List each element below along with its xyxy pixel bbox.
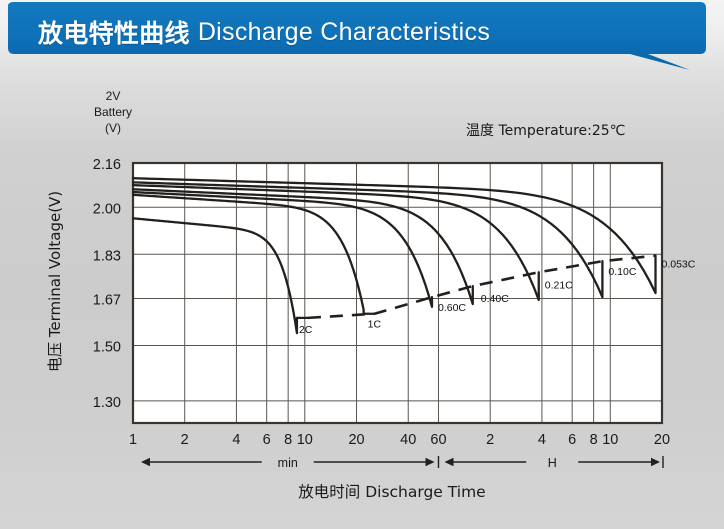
x-tick-labels: 124681020406024681020 [129,432,670,448]
x-tick-label: 6 [568,432,576,448]
y-axis-title: 电压 Terminal Voltage(V) [46,191,64,372]
x-axis-title-text: 放电时间 Discharge Time [298,483,485,501]
curve-label-0p053C: 0.053C [662,259,696,271]
curve-label-0p60C: 0.60C [438,302,466,314]
hour-unit-label: H [548,456,557,470]
y-tick-label: 2.16 [93,157,121,173]
y-axis-header: 2V Battery (V) [94,89,132,135]
x-tick-label: 6 [263,432,271,448]
y-axis-header-line-2: Battery [94,105,132,119]
x-tick-label: 8 [284,432,292,448]
curve-label-1C: 1C [368,319,382,331]
hour-unit-arrow-right [651,458,660,466]
discharge-chart: 2V Battery (V) 温度 Temperature:25℃ 电压 Ter… [0,72,724,529]
min-unit-arrow-right [425,458,434,466]
x-tick-label: 4 [538,432,546,448]
min-unit-label: min [278,456,298,470]
x-tick-label: 2 [486,432,494,448]
y-tick-label: 1.67 [93,293,121,309]
plot-area [133,163,662,423]
banner-bubble [8,2,706,70]
y-tick-label: 1.50 [93,340,121,356]
y-tick-label: 2.00 [93,201,121,217]
y-tick-labels: 2.162.001.831.671.501.30 [93,157,121,411]
chart-canvas: 2V Battery (V) 温度 Temperature:25℃ 电压 Ter… [0,72,724,529]
min-unit-arrow-left [141,458,150,466]
curve-label-0p40C: 0.40C [481,293,509,305]
y-axis-title-text: 电压 Terminal Voltage(V) [46,191,64,372]
x-tick-label: 8 [590,432,598,448]
x-tick-label: 20 [348,432,364,448]
x-tick-label: 20 [654,432,670,448]
x-tick-label: 10 [297,432,313,448]
x-axis-unit-indicators: minH [141,456,663,470]
temperature-annotation: 温度 Temperature:25℃ [466,123,625,139]
y-axis-header-line-1: 2V [106,89,121,103]
curve-label-0p10C: 0.10C [608,266,636,278]
curve-label-2C: 2C [299,324,313,336]
x-tick-label: 1 [129,432,137,448]
plot-background [133,163,662,423]
y-tick-label: 1.30 [93,395,121,411]
curve-label-0p21C: 0.21C [545,279,573,291]
x-tick-label: 60 [430,432,446,448]
x-tick-label: 4 [232,432,240,448]
x-tick-label: 2 [181,432,189,448]
y-axis-header-line-3: (V) [105,121,121,135]
hour-unit-arrow-left [444,458,453,466]
y-tick-label: 1.83 [93,248,121,264]
header-banner: 放电特性曲线 Discharge Characteristics [0,0,724,72]
x-tick-label: 40 [400,432,416,448]
banner-shape [0,0,724,72]
x-tick-label: 10 [602,432,618,448]
x-axis-title: 放电时间 Discharge Time [298,483,485,501]
